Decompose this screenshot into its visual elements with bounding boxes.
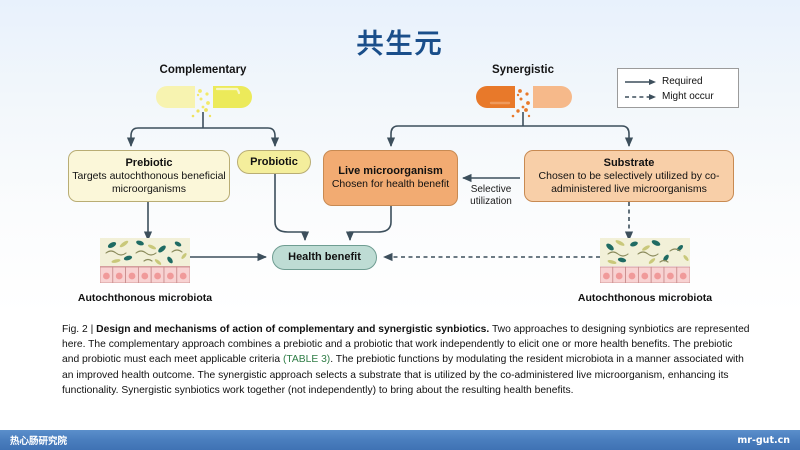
legend-item-might-occur: Might occur bbox=[624, 89, 732, 104]
node-prebiotic-subtitle: Targets autochthonous beneficial microor… bbox=[69, 170, 229, 195]
caption-bold-title: Design and mechanisms of action of compl… bbox=[96, 324, 489, 335]
node-prebiotic[interactable]: Prebiotic Targets autochthonous benefici… bbox=[68, 150, 230, 202]
right-microbiota-icon bbox=[600, 238, 690, 283]
edge-to-substrate bbox=[523, 126, 629, 146]
synergistic-label: Synergistic bbox=[453, 64, 593, 76]
legend-label-might-occur: Might occur bbox=[658, 91, 714, 102]
node-health-benefit-title: Health benefit bbox=[288, 251, 361, 264]
legend-item-required: Required bbox=[624, 74, 732, 89]
node-prebiotic-title: Prebiotic bbox=[125, 157, 172, 170]
right-microbiota-label: Autochthonous microbiota bbox=[560, 292, 730, 304]
synergistic-capsule-spill bbox=[500, 108, 546, 120]
left-microbiota-label: Autochthonous microbiota bbox=[60, 292, 230, 304]
edge-live-to-health bbox=[350, 206, 391, 240]
footer-bar: 热心肠研究院 mr-gut.cn bbox=[0, 430, 800, 450]
node-live-microorganism-title: Live microorganism bbox=[338, 165, 443, 178]
edge-to-prebiotic bbox=[131, 128, 203, 146]
node-probiotic-title: Probiotic bbox=[250, 156, 298, 169]
figure-canvas: 共生元 bbox=[0, 0, 800, 450]
figure-caption: Fig. 2 | Design and mechanisms of action… bbox=[62, 322, 750, 398]
node-substrate-subtitle: Chosen to be selectively utilized by co-… bbox=[525, 170, 733, 195]
complementary-capsule-spill bbox=[180, 108, 226, 120]
caption-table-reference[interactable]: (TABLE 3) bbox=[283, 354, 330, 365]
edge-to-probiotic bbox=[203, 128, 275, 146]
node-substrate[interactable]: Substrate Chosen to be selectively utili… bbox=[524, 150, 734, 202]
node-substrate-title: Substrate bbox=[604, 157, 655, 170]
node-live-microorganism[interactable]: Live microorganism Chosen for health ben… bbox=[323, 150, 458, 206]
edge-label-selective-utilization: Selective utilization bbox=[453, 184, 529, 208]
footer-right-label[interactable]: mr-gut.cn bbox=[737, 435, 790, 446]
left-microbiota-icon bbox=[100, 238, 190, 283]
node-live-microorganism-subtitle: Chosen for health benefit bbox=[332, 178, 449, 191]
node-health-benefit[interactable]: Health benefit bbox=[272, 245, 377, 270]
node-probiotic[interactable]: Probiotic bbox=[237, 150, 311, 174]
legend-label-required: Required bbox=[658, 76, 703, 87]
solid-arrow-icon bbox=[624, 76, 658, 88]
caption-figure-number: Fig. 2 | bbox=[62, 324, 96, 335]
dashed-arrow-icon bbox=[624, 91, 658, 103]
edge-to-live-microorganism bbox=[391, 126, 523, 146]
legend-box: Required Might occur bbox=[617, 68, 739, 108]
complementary-label: Complementary bbox=[133, 64, 273, 76]
edge-probiotic-to-health bbox=[275, 174, 305, 240]
footer-left-label: 热心肠研究院 bbox=[10, 433, 67, 447]
